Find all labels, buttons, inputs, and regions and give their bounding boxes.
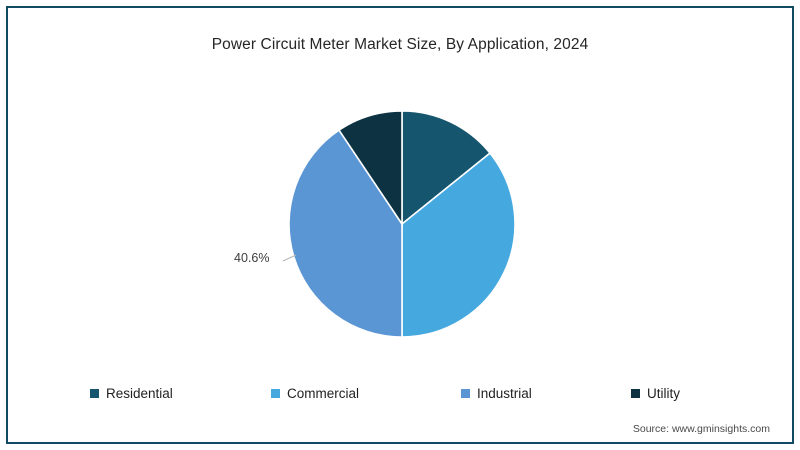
legend-label: Commercial [287,386,359,401]
legend-label: Utility [647,386,680,401]
legend-item-residential[interactable]: Residential [90,386,271,401]
legend-item-utility[interactable]: Utility [631,386,720,401]
legend-swatch-icon [90,389,99,398]
pie-slice-group [289,111,515,337]
legend-label: Industrial [477,386,532,401]
source-attribution: Source: www.gminsights.com [633,423,770,435]
legend-swatch-icon [271,389,280,398]
legend-swatch-icon [631,389,640,398]
pie-chart-svg [0,0,800,450]
pie-chart: 40.6% [0,0,800,450]
legend-item-industrial[interactable]: Industrial [461,386,631,401]
legend-swatch-icon [461,389,470,398]
chart-canvas: Power Circuit Meter Market Size, By Appl… [0,0,800,450]
pie-slice-label-industrial: 40.6% [234,251,269,265]
chart-legend: Residential Commercial Industrial Utilit… [90,386,720,401]
legend-label: Residential [106,386,173,401]
legend-item-commercial[interactable]: Commercial [271,386,461,401]
